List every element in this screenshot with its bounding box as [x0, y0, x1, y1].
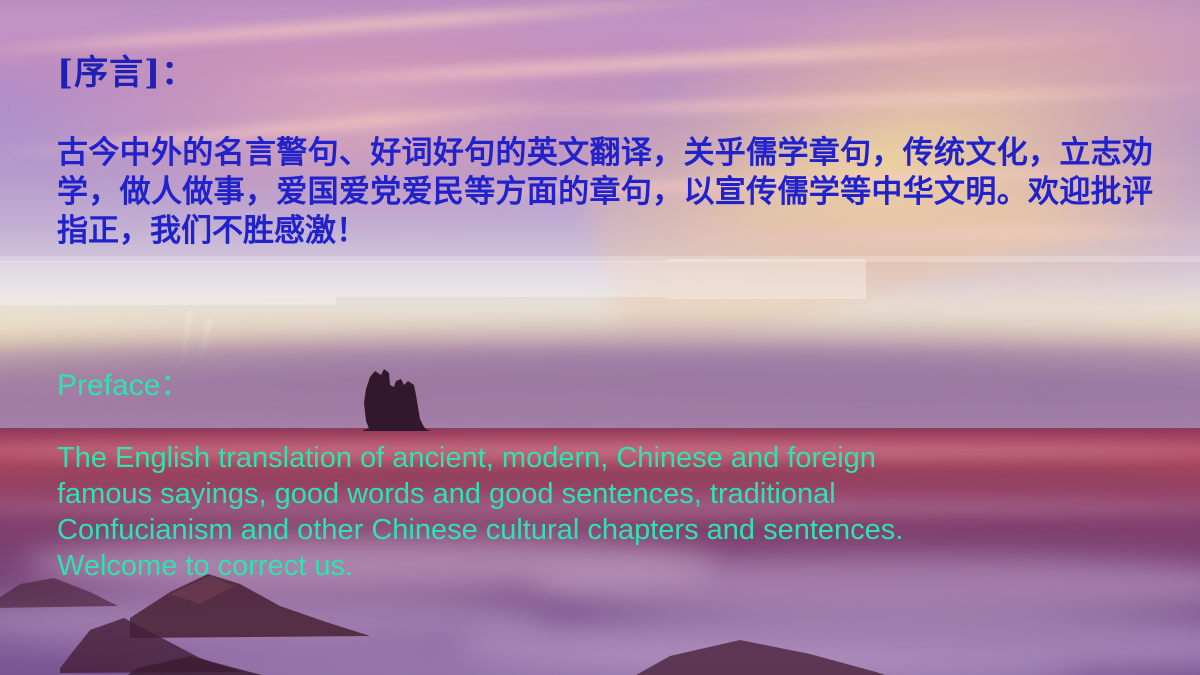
english-body-line: The English translation of ancient, mode…	[57, 440, 1097, 476]
presentation-slide: [序言]： 古今中外的名言警句、好词好句的英文翻译，关乎儒学章句，传统文化，立志…	[0, 0, 1200, 675]
english-body-line: Confucianism and other Chinese cultural …	[57, 512, 1097, 548]
english-body-line: Welcome to correct us.	[57, 548, 1097, 584]
chinese-title: [序言]：	[57, 45, 196, 94]
chinese-body-text: 古今中外的名言警句、好词好句的英文翻译，关乎儒学章句，传统文化，立志劝学，做人做…	[57, 134, 1153, 251]
english-body-text: The English translation of ancient, mode…	[57, 440, 1097, 584]
english-title: Preface：	[57, 360, 190, 404]
slide-text-layer: [序言]： 古今中外的名言警句、好词好句的英文翻译，关乎儒学章句，传统文化，立志…	[0, 0, 1200, 675]
english-body-line: famous sayings, good words and good sent…	[57, 476, 1097, 512]
